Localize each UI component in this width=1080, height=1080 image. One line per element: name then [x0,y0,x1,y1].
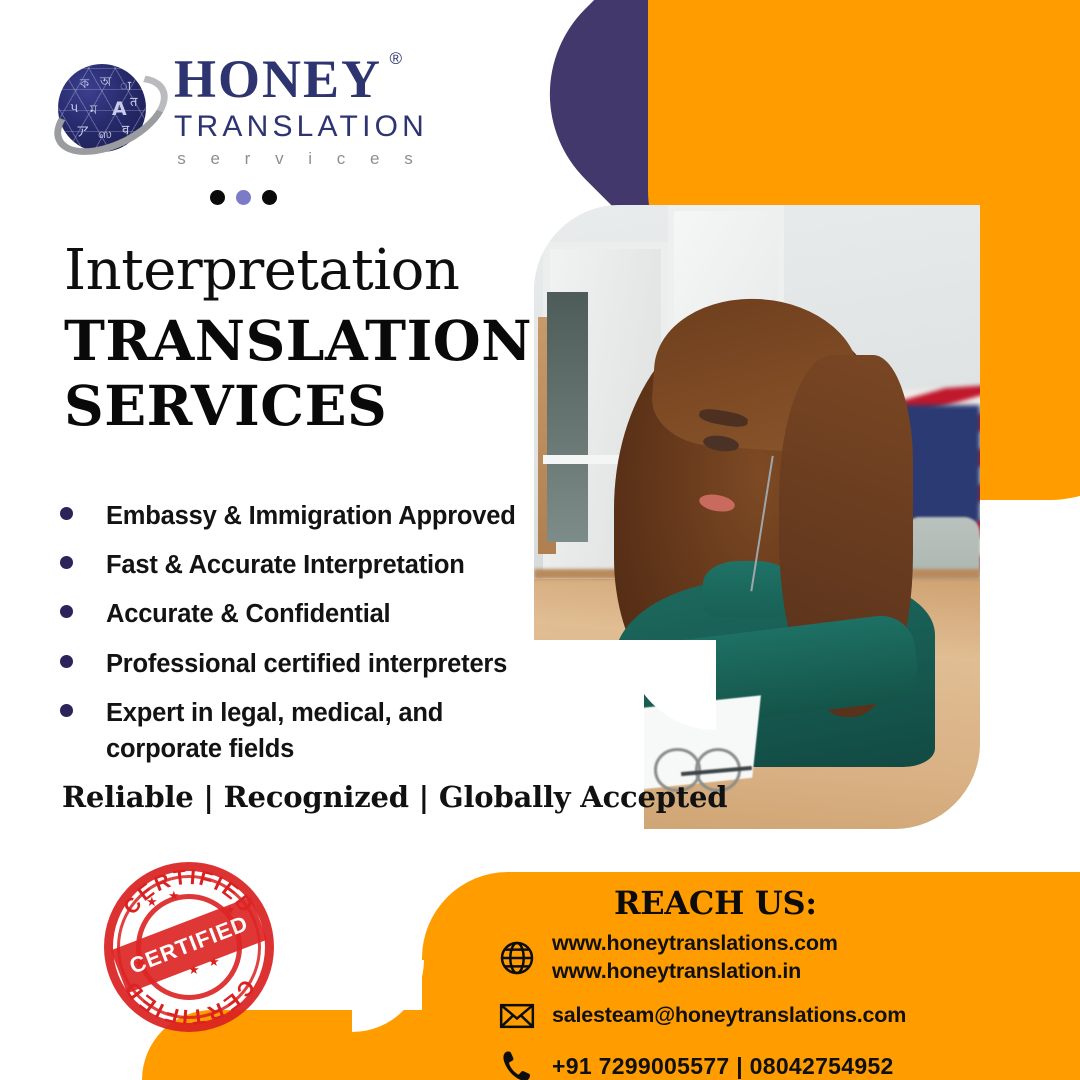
tagline: Reliable | Recognized | Globally Accepte… [62,780,727,814]
brand-logo[interactable]: ক অ ा પ ম A त ア ஸ व HONEY ® TRANSLATION … [52,52,412,172]
logo-brand-text: HONEY [174,49,382,109]
list-item-label: Expert in legal, medical, and corporate … [106,695,456,767]
bullet-dot-icon [60,556,73,569]
website-line-2[interactable]: www.honeytranslation.in [552,958,838,986]
envelope-icon [494,996,540,1036]
bullet-dot-icon [60,655,73,668]
logo-line-translation: TRANSLATION [174,110,428,144]
phone-icon [494,1047,540,1080]
carousel-dots [210,190,277,205]
globe-languages-icon: ক অ ा પ ম A त ア ஸ व [52,56,156,160]
reach-us-title: REACH US: [614,884,817,922]
list-item-label: Professional certified interpreters [106,646,507,682]
list-item: Fast & Accurate Interpretation [54,547,524,583]
carousel-dot-1[interactable] [210,190,225,205]
bullet-dot-icon [60,507,73,520]
list-item: Professional certified interpreters [54,646,524,682]
list-item-label: Fast & Accurate Interpretation [106,547,465,583]
registered-trademark-icon: ® [390,50,405,67]
bullet-dot-icon [60,704,73,717]
list-item: Embassy & Immigration Approved [54,498,524,534]
stamp-star-icon: ★ [168,888,180,904]
website-line-1[interactable]: www.honeytranslations.com [552,930,838,958]
list-item: Expert in legal, medical, and corporate … [54,695,524,767]
headline-bold-line-2: SERVICES [64,373,532,438]
certified-stamp-icon: CERTIFIED CERTIFIED ★ ★ ★ ★ ★ ★ CERTIFIE… [104,862,274,1032]
contact-list: www.honeytranslations.com www.honeytrans… [494,930,1054,1080]
headline-bold: TRANSLATION SERVICES [64,308,532,439]
phone-numbers[interactable]: +91 7299005577 | 08042754952 [552,1052,894,1080]
bullet-dot-icon [60,605,73,618]
logo-line-services: s e r v i c e s [174,149,426,169]
feature-list: Embassy & Immigration Approved Fast & Ac… [54,498,524,780]
contact-row-email[interactable]: salesteam@honeytranslations.com [494,996,1054,1036]
globe-icon [494,938,540,978]
contact-row-website[interactable]: www.honeytranslations.com www.honeytrans… [494,930,1054,985]
email-address[interactable]: salesteam@honeytranslations.com [552,1002,906,1030]
list-item-label: Embassy & Immigration Approved [106,498,516,534]
photo-shelf-panel [547,292,587,542]
logo-wordmark: HONEY ® TRANSLATION s e r v i c e s [174,52,428,169]
list-item: Accurate & Confidential [54,596,524,632]
carousel-dot-3[interactable] [262,190,277,205]
logo-brand-name: HONEY ® [174,52,382,106]
website-links[interactable]: www.honeytranslations.com www.honeytrans… [552,930,838,985]
contact-row-phone[interactable]: +91 7299005577 | 08042754952 [494,1047,1054,1080]
headline-script: Interpretation [64,238,459,303]
stamp-star-icon: ★ [146,894,158,910]
carousel-dot-2[interactable] [236,190,251,205]
list-item-label: Accurate & Confidential [106,596,390,632]
poster-canvas: ক অ ा પ ম A त ア ஸ व HONEY ® TRANSLATION … [0,0,1080,1080]
headline-bold-line-1: TRANSLATION [64,308,532,373]
